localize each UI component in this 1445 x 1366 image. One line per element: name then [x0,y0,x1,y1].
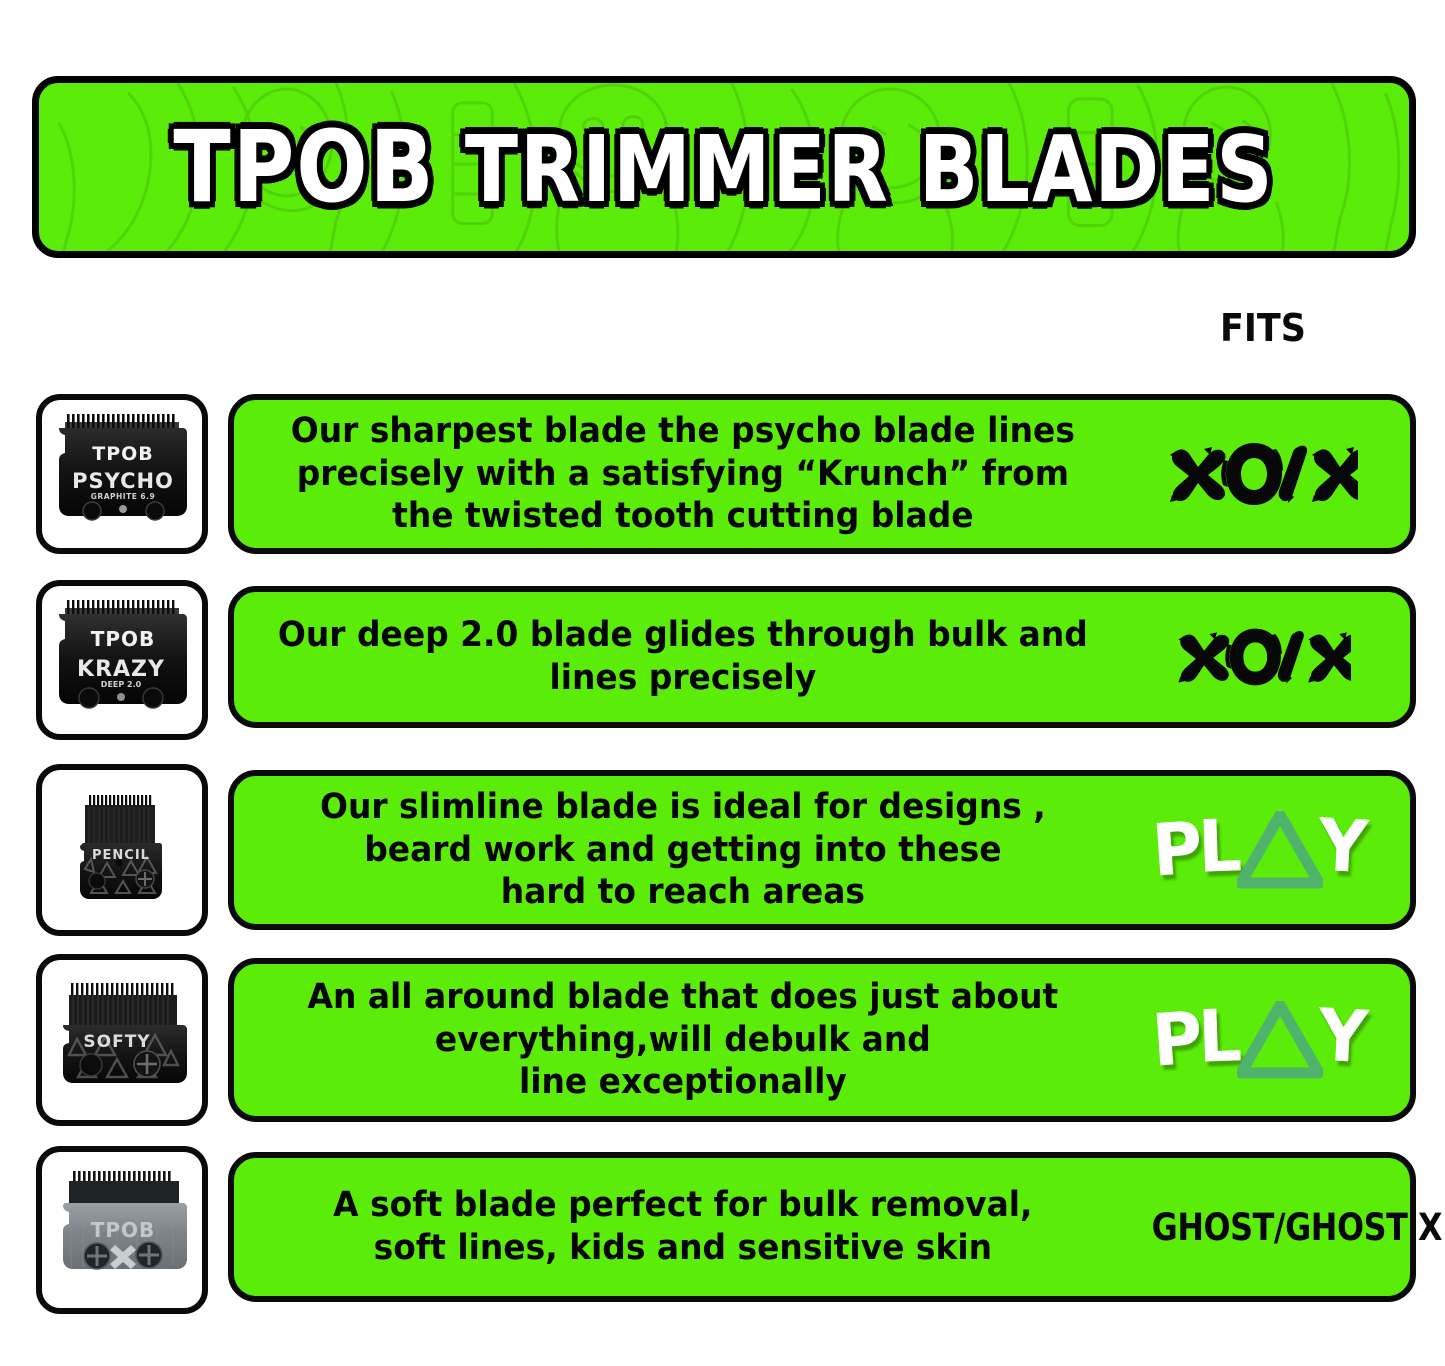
blade-description-ghost: A soft blade perfect for bulk removal, s… [261,1184,1101,1269]
fits-column-label: FITS [1194,306,1332,350]
description-line: beard work and getting into these [265,829,1102,872]
xox-icon [1168,439,1358,509]
description-line: An all around blade that does just about [265,976,1102,1019]
blade-thumbnail-krazy: TPOB KRAZY DEEP 2.0 [36,580,208,740]
svg-text:SOFTY: SOFTY [83,1032,150,1052]
banner-title: TPOB TRIMMER BLADES [173,109,1274,225]
svg-text:DEEP 2.0: DEEP 2.0 [101,680,142,689]
description-line: A soft blade perfect for bulk removal, [265,1184,1102,1227]
blade-description-softy: An all around blade that does just about… [261,976,1101,1104]
fits-logo-xox-row2 [1128,625,1410,689]
play-logo: P L Y [1151,811,1375,889]
svg-text:KRAZY: KRAZY [77,657,165,682]
infographic-page: TPOB TRIMMER BLADES FITS [0,0,1445,1366]
blade-panel-softy: An all around blade that does just about… [228,958,1416,1122]
blade-thumbnail-pencil: PENCIL [36,764,208,936]
fits-logo-ghost-row5: GHOST/GHOST X [1128,1206,1445,1249]
ghost-fits-label: GHOST/GHOST X [1152,1206,1442,1249]
description-line: Our deep 2.0 blade glides through bulk a… [265,614,1102,657]
description-line: Our sharpest blade the psycho blade line… [265,410,1102,453]
svg-text:TPOB: TPOB [92,443,154,465]
fits-logo-play-row4: P L Y [1128,1001,1410,1079]
fits-logo-play-row3: P L Y [1128,811,1410,889]
blade-panel-psycho: Our sharpest blade the psycho blade line… [228,394,1416,554]
blade-image-softy: SOFTY [47,965,197,1115]
blade-image-psycho: TPOB PSYCHO GRAPHITE 6.9 [47,404,197,544]
svg-text:PSYCHO: PSYCHO [72,469,174,493]
description-line: precisely with a satisfying “Krunch” fro… [265,453,1102,496]
svg-text:TPOB: TPOB [91,627,156,651]
description-line: hard to reach areas [265,871,1102,914]
description-line: soft lines, kids and sensitive skin [265,1227,1102,1270]
description-line: everything,will debulk and [265,1019,1102,1062]
blade-panel-pencil: Our slimline blade is ideal for designs … [228,770,1416,930]
svg-text:TPOB: TPOB [91,1218,156,1242]
description-line: lines precisely [265,657,1102,700]
description-line: Our slimline blade is ideal for designs … [265,786,1102,829]
play-letter-y: Y [1316,809,1369,883]
header-banner: TPOB TRIMMER BLADES [32,76,1416,258]
fits-logo-xox-row1 [1128,439,1410,509]
blade-panel-ghost: A soft blade perfect for bulk removal, s… [228,1152,1416,1302]
blade-description-krazy: Our deep 2.0 blade glides through bulk a… [261,614,1101,699]
play-triangle-icon [1237,1001,1323,1079]
blade-thumbnail-softy: SOFTY [36,954,208,1126]
play-letter-y: Y [1316,999,1369,1073]
blade-description-psycho: Our sharpest blade the psycho blade line… [261,410,1101,538]
play-triangle-icon [1237,811,1323,889]
blade-image-krazy: TPOB KRAZY DEEP 2.0 [47,590,197,730]
description-line: the twisted tooth cutting blade [265,495,1102,538]
banner-title-rest: TRIMMER BLADES [465,117,1275,223]
blade-image-pencil: PENCIL [47,775,197,925]
blade-thumbnail-psycho: TPOB PSYCHO GRAPHITE 6.9 [36,394,208,554]
xox-icon [1176,625,1351,689]
blade-description-pencil: Our slimline blade is ideal for designs … [261,786,1101,914]
svg-text:GRAPHITE 6.9: GRAPHITE 6.9 [91,492,155,501]
blade-panel-krazy: Our deep 2.0 blade glides through bulk a… [228,586,1416,728]
play-logo: P L Y [1151,1001,1375,1079]
blade-thumbnail-ghost: TPOB [36,1146,208,1314]
blade-image-ghost: TPOB [47,1155,197,1305]
banner-title-brand: TPOB [173,109,435,225]
description-line: line exceptionally [265,1061,1102,1104]
